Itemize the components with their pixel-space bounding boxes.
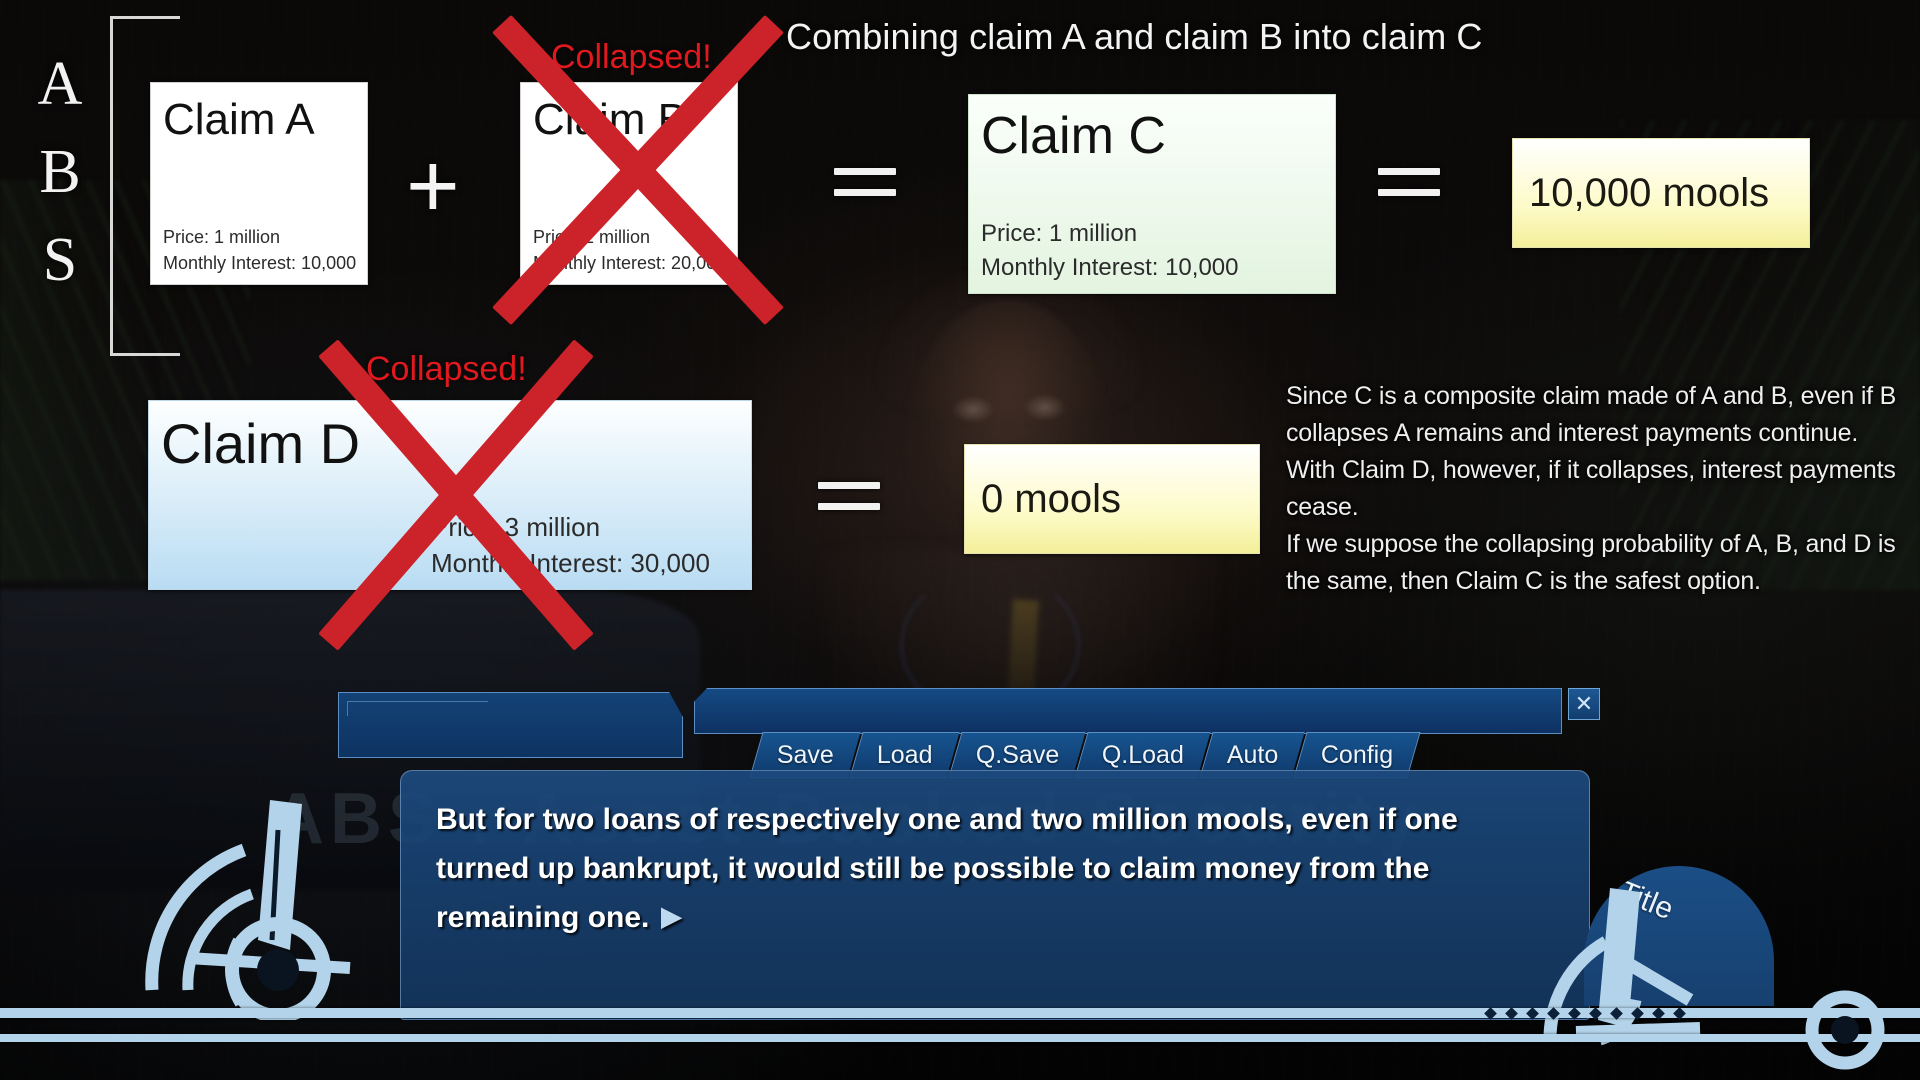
claim-c-name: Claim C [981,105,1323,167]
character-eye-left [952,396,994,423]
menu-left-panel [338,692,683,758]
collapsed-label-d: Collapsed! [366,350,527,389]
abs-label: A B S [20,40,100,304]
claim-card-d: Claim D Price: 3 million Monthly Interes… [148,400,752,590]
result-card-c: 10,000 mools [1512,138,1810,248]
equals-operator-3 [818,482,880,510]
abs-letter-s: S [20,216,100,304]
abs-letter-b: B [20,128,100,216]
claim-b-price: Price: 2 million [533,224,725,250]
dialogue-box[interactable]: But for two loans of respectively one an… [400,770,1590,1020]
claim-card-c: Claim C Price: 1 million Monthly Interes… [968,94,1336,294]
abs-letter-a: A [20,40,100,128]
game-screen: A B S Combining claim A and claim B into… [0,0,1920,1080]
character-eye-right [1024,394,1066,421]
claim-a-name: Claim A [163,93,355,147]
claim-d-name: Claim D [161,411,739,477]
claim-card-a: Claim A Price: 1 million Monthly Interes… [150,82,368,285]
claim-b-name: Claim B [533,93,725,147]
menu-button-label: Auto [1227,741,1278,770]
claim-card-b: Claim B Price: 2 million Monthly Interes… [520,82,738,285]
claim-d-interest: Monthly Interest: 30,000 [431,545,739,581]
claim-c-interest: Monthly Interest: 10,000 [981,251,1323,285]
dialogue-body: But for two loans of respectively one an… [436,803,1458,934]
result-d-value: 0 mools [965,477,1121,522]
explanation-text: Since C is a composite claim made of A a… [1286,378,1906,600]
deco-dot-row [1480,1008,1710,1018]
deco-rail-lower [0,1034,1920,1042]
collapsed-label-b: Collapsed! [551,38,712,77]
claim-c-details: Price: 1 million Monthly Interest: 10,00… [981,217,1323,285]
menu-button-label: Save [777,741,834,770]
claim-b-details: Price: 2 million Monthly Interest: 20,00… [533,224,725,276]
dialogue-text: But for two loans of respectively one an… [436,795,1551,943]
menu-button-label: Q.Load [1102,741,1184,770]
equals-operator-1 [834,168,896,196]
claim-d-price: Price: 3 million [431,509,739,545]
result-c-value: 10,000 mools [1513,171,1769,216]
claim-a-details: Price: 1 million Monthly Interest: 10,00… [163,224,355,276]
menu-button-label: Load [877,741,933,770]
vn-menu-bar: ✕ SaveLoadQ.SaveQ.LoadAutoConfig [338,688,1600,770]
diagram-title: Combining claim A and claim B into claim… [786,16,1482,58]
claim-a-price: Price: 1 million [163,224,355,250]
equals-operator-2 [1378,168,1440,196]
claim-c-price: Price: 1 million [981,217,1323,251]
claim-a-interest: Monthly Interest: 10,000 [163,250,355,276]
menu-button-label: Config [1321,741,1393,770]
deco-ring-right [1790,980,1920,1080]
advance-cursor-icon[interactable]: ▶ [661,892,681,941]
claim-d-details: Price: 3 million Monthly Interest: 30,00… [161,509,739,581]
menu-top-bar [694,688,1562,734]
claim-b-interest: Monthly Interest: 20,000 [533,250,725,276]
close-icon[interactable]: ✕ [1568,688,1600,720]
result-card-d: 0 mools [964,444,1260,554]
title-badge-label: Title [1614,875,1678,927]
plus-operator: + [406,140,460,232]
menu-button-label: Q.Save [976,741,1059,770]
